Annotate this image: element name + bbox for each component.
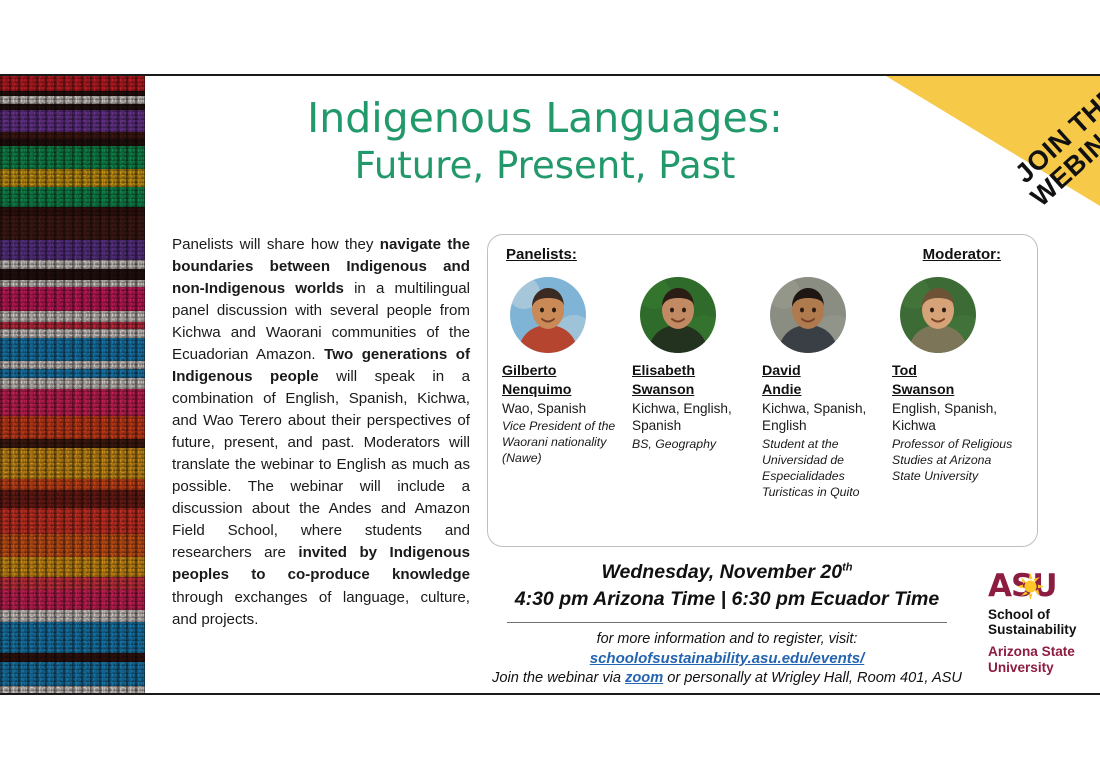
join-prefix: Join the webinar via	[492, 670, 625, 686]
textile-band-29	[0, 490, 145, 508]
register-link-row: schoolofsustainability.asu.edu/events/	[487, 650, 967, 668]
textile-band-26	[0, 439, 145, 448]
textile-weave-texture	[0, 534, 145, 558]
textile-band-9	[0, 187, 145, 207]
textile-band-27	[0, 448, 145, 479]
asu-unit-line2: Sustainability	[988, 622, 1088, 637]
event-date-suffix: th	[842, 562, 852, 574]
avatar-david-andie	[770, 277, 846, 353]
textile-weave-texture	[0, 590, 145, 610]
person-languages: Kichwa, English, Spanish	[632, 400, 754, 434]
description-segment-4: will speak in a combination of English, …	[172, 368, 470, 561]
person-role: Student at the Universidad de Especialid…	[762, 437, 884, 501]
textile-weave-texture	[0, 508, 145, 533]
join-the-webinar-corner-banner[interactable]: JOIN THE WEBINAR	[886, 76, 1100, 206]
title-line-1: Indigenous Languages:	[175, 96, 915, 140]
textile-band-28	[0, 479, 145, 490]
textile-band-25	[0, 416, 145, 440]
page-title: Indigenous Languages: Future, Present, P…	[175, 96, 915, 189]
textile-band-17	[0, 311, 145, 322]
textile-band-7	[0, 146, 145, 170]
textile-weave-texture	[0, 76, 145, 91]
textile-weave-texture	[0, 269, 145, 280]
textile-weave-texture	[0, 240, 145, 260]
textile-band-31	[0, 534, 145, 558]
title-line-2: Future, Present, Past	[175, 144, 915, 188]
person-role: Professor of Religious Studies at Arizon…	[892, 437, 1014, 485]
person-card: DavidAndieKichwa, Spanish, EnglishStuden…	[762, 277, 892, 501]
asu-logo: ASU School of Sustainability Ar	[988, 571, 1088, 675]
textile-band-11	[0, 216, 145, 240]
textile-weave-texture	[0, 146, 145, 170]
textile-weave-texture	[0, 96, 145, 104]
textile-band-35	[0, 610, 145, 623]
panelists-card: Panelists: Moderator: GilbertoNenquimoWa…	[487, 234, 1038, 547]
event-times: 4:30 pm Arizona Time | 6:30 pm Ecuador T…	[487, 586, 967, 613]
textile-weave-texture	[0, 260, 145, 269]
moderator-heading: Moderator:	[923, 246, 1001, 263]
person-name-line1: Tod	[892, 362, 1014, 380]
textile-band-38	[0, 662, 145, 686]
textile-band-33	[0, 577, 145, 590]
textile-weave-texture	[0, 322, 145, 329]
textile-band-12	[0, 240, 145, 260]
textile-weave-texture	[0, 110, 145, 132]
textile-band-24	[0, 389, 145, 416]
description-segment-0: Panelists will share how they	[172, 236, 380, 253]
textile-band-30	[0, 508, 145, 533]
textile-band-2	[0, 96, 145, 104]
section-divider	[507, 622, 947, 623]
textile-weave-texture	[0, 389, 145, 416]
textile-weave-texture	[0, 686, 145, 695]
asu-wordmark: ASU	[988, 571, 1057, 602]
textile-band-39	[0, 686, 145, 695]
textile-band-37	[0, 653, 145, 662]
textile-band-15	[0, 280, 145, 287]
textile-band-23	[0, 378, 145, 389]
textile-weave-texture	[0, 378, 145, 389]
textile-band-18	[0, 322, 145, 329]
person-name-line1: Elisabeth	[632, 362, 754, 380]
textile-weave-texture	[0, 287, 145, 311]
textile-weave-texture	[0, 369, 145, 378]
textile-band-36	[0, 622, 145, 653]
textile-band-13	[0, 260, 145, 269]
textile-weave-texture	[0, 139, 145, 146]
event-date: Wednesday, November 20th	[487, 559, 967, 586]
asu-unit-name: School of Sustainability	[988, 607, 1088, 637]
textile-weave-texture	[0, 280, 145, 287]
textile-weave-texture	[0, 653, 145, 662]
description-paragraph: Panelists will share how they navigate t…	[172, 234, 470, 631]
textile-weave-texture	[0, 479, 145, 490]
events-page-link[interactable]: schoolofsustainability.asu.edu/events/	[590, 650, 865, 667]
textile-weave-texture	[0, 577, 145, 590]
asu-university-line1: Arizona State	[988, 644, 1088, 659]
avatar-elisabeth-swanson	[640, 277, 716, 353]
avatar-tod-swanson	[900, 277, 976, 353]
textile-weave-texture	[0, 490, 145, 508]
person-name-line1: Gilberto	[502, 362, 624, 380]
textile-weave-texture	[0, 361, 145, 368]
textile-band-34	[0, 590, 145, 610]
textile-band-8	[0, 169, 145, 187]
person-card: ElisabethSwansonKichwa, English, Spanish…	[632, 277, 762, 501]
woven-textile-border	[0, 76, 145, 695]
person-name-line2: Swanson	[632, 381, 754, 399]
textile-band-10	[0, 207, 145, 216]
textile-weave-texture	[0, 610, 145, 623]
person-role: Vice President of the Waorani nationalit…	[502, 419, 624, 467]
person-name-line1: David	[762, 362, 884, 380]
event-date-text: Wednesday, November 20	[602, 561, 843, 583]
textile-band-19	[0, 329, 145, 338]
person-languages: Wao, Spanish	[502, 400, 624, 417]
asu-university-name: Arizona State University	[988, 644, 1088, 674]
person-languages: English, Spanish, Kichwa	[892, 400, 1014, 434]
people-row: GilbertoNenquimoWao, SpanishVice Preside…	[502, 277, 1025, 501]
register-prompt: for more information and to register, vi…	[487, 629, 967, 649]
event-details: Wednesday, November 20th 4:30 pm Arizona…	[487, 559, 967, 690]
zoom-link[interactable]: zoom	[625, 670, 663, 686]
person-name-line2: Andie	[762, 381, 884, 399]
textile-band-6	[0, 139, 145, 146]
asu-sunburst-icon	[1017, 573, 1044, 600]
asu-university-line2: University	[988, 660, 1088, 675]
textile-weave-texture	[0, 338, 145, 362]
join-instructions: Join the webinar via zoom or personally …	[487, 668, 967, 690]
textile-band-21	[0, 361, 145, 368]
textile-weave-texture	[0, 439, 145, 448]
textile-band-14	[0, 269, 145, 280]
textile-band-32	[0, 557, 145, 577]
avatar-gilberto-nenquimo	[510, 277, 586, 353]
textile-band-0	[0, 76, 145, 91]
textile-weave-texture	[0, 329, 145, 338]
textile-weave-texture	[0, 448, 145, 479]
textile-weave-texture	[0, 622, 145, 653]
textile-weave-texture	[0, 216, 145, 240]
textile-band-16	[0, 287, 145, 311]
textile-weave-texture	[0, 169, 145, 187]
textile-weave-texture	[0, 207, 145, 216]
person-name-line2: Nenquimo	[502, 381, 624, 399]
textile-weave-texture	[0, 662, 145, 686]
person-card: GilbertoNenquimoWao, SpanishVice Preside…	[502, 277, 632, 501]
person-name-line2: Swanson	[892, 381, 1014, 399]
flyer-canvas: JOIN THE WEBINAR Indigenous Languages: F…	[0, 74, 1100, 695]
textile-weave-texture	[0, 557, 145, 577]
panelists-heading: Panelists:	[506, 246, 577, 263]
textile-weave-texture	[0, 311, 145, 322]
person-languages: Kichwa, Spanish, English	[762, 400, 884, 434]
asu-unit-line1: School of	[988, 607, 1088, 622]
description-segment-6: through exchanges of language, culture, …	[172, 589, 470, 628]
textile-band-20	[0, 338, 145, 362]
join-suffix: or personally at Wrigley Hall, Room 401,…	[663, 670, 962, 686]
textile-band-4	[0, 110, 145, 132]
textile-weave-texture	[0, 416, 145, 440]
person-card: TodSwansonEnglish, Spanish, KichwaProfes…	[892, 277, 1022, 501]
person-role: BS, Geography	[632, 437, 754, 453]
textile-weave-texture	[0, 187, 145, 207]
textile-band-22	[0, 369, 145, 378]
